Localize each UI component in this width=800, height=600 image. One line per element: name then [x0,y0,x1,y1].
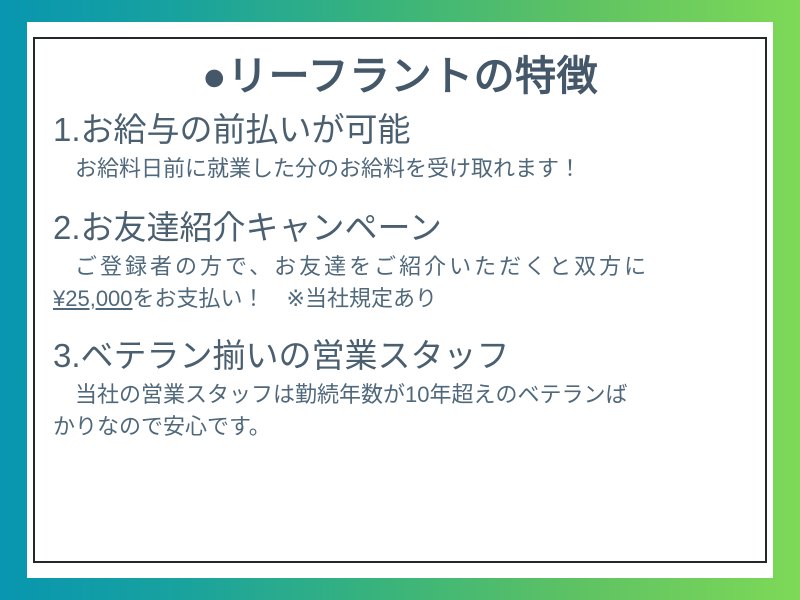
feature-item-heading: 2.お友達紹介キャンペーン [53,208,767,248]
feature-body-line: お給料日前に就業した分のお給料を受け取れます！ [53,153,767,185]
slide-canvas: ●リーフラントの特徴 1.お給与の前払いが可能お給料日前に就業した分のお給料を受… [0,0,800,600]
page-title: ●リーフラントの特徴 [33,37,767,98]
feature-item: 1.お給与の前払いが可能お給料日前に就業した分のお給料を受け取れます！ [33,110,767,184]
feature-body-line: ¥25,000をお支払い！ ※当社規定あり [53,283,767,315]
feature-item: 3.ベテラン揃いの営業スタッフ当社の営業スタッフは勤続年数が10年超えのベテラン… [33,336,767,442]
feature-item-body: ご登録者の方で、お友達をご紹介いただくと双方に¥25,000をお支払い！ ※当社… [53,251,767,315]
body-text: ※当社規定あり [265,286,437,311]
feature-item-body: お給料日前に就業した分のお給料を受け取れます！ [53,153,767,185]
body-text: かりなので安心です。 [53,414,271,439]
referral-amount: ¥25,000 [53,286,133,311]
slide-content: ●リーフラントの特徴 1.お給与の前払いが可能お給料日前に就業した分のお給料を受… [33,37,767,563]
feature-item: 2.お友達紹介キャンペーンご登録者の方で、お友達をご紹介いただくと双方に¥25,… [33,208,767,314]
feature-item-body: 当社の営業スタッフは勤続年数が10年超えのベテランばかりなので安心です。 [53,379,767,443]
feature-body-line: ご登録者の方で、お友達をご紹介いただくと双方に [53,251,767,283]
body-text: お給料日前に就業した分のお給料を受け取れます！ [75,156,581,181]
feature-body-line: 当社の営業スタッフは勤続年数が10年超えのベテランば [53,379,767,411]
feature-list: 1.お給与の前払いが可能お給料日前に就業した分のお給料を受け取れます！2.お友達… [33,110,767,442]
feature-item-heading: 3.ベテラン揃いの営業スタッフ [53,336,767,376]
body-text: ご登録者の方で、お友達をご紹介いただくと双方に [75,254,649,279]
body-text: 当社の営業スタッフは勤続年数が10年超えのベテランば [75,382,627,407]
feature-item-heading: 1.お給与の前払いが可能 [53,110,767,150]
feature-body-line: かりなので安心です。 [53,411,767,443]
body-text: をお支払い！ [133,286,265,311]
